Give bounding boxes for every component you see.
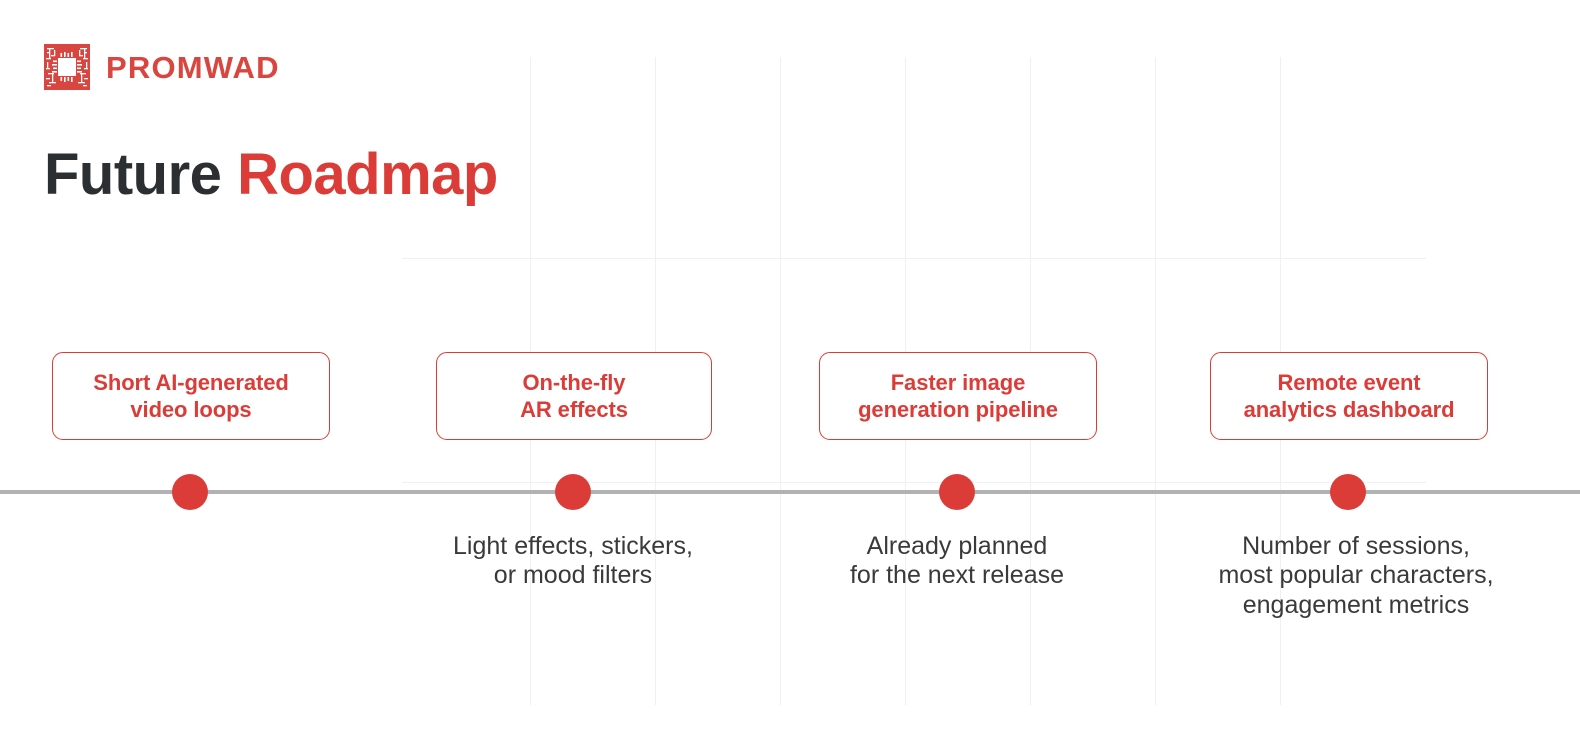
page-title-dark: Future [44, 142, 221, 207]
timeline-dot-3[interactable] [939, 474, 975, 510]
milestone-card-2[interactable]: On-the-fly AR effects [436, 352, 712, 440]
milestone-card-label: On-the-fly AR effects [510, 369, 638, 424]
milestone-card-label: Remote event analytics dashboard [1234, 369, 1465, 424]
milestone-card-3[interactable]: Faster image generation pipeline [819, 352, 1097, 440]
grid-line-horizontal [402, 258, 1426, 259]
brand-logo: PROMWAD [44, 44, 280, 90]
grid-line-horizontal [402, 482, 1426, 483]
milestone-caption-4: Number of sessions, most popular charact… [1180, 532, 1532, 620]
grid-line-vertical [780, 57, 781, 705]
timeline-dot-4[interactable] [1330, 474, 1366, 510]
roadmap-slide: PROMWAD Future Roadmap Short AI-generate… [0, 0, 1580, 753]
page-title: Future Roadmap [44, 143, 498, 207]
milestone-card-label: Short AI-generated video loops [83, 369, 298, 424]
milestone-card-4[interactable]: Remote event analytics dashboard [1210, 352, 1488, 440]
milestone-caption-2: Light effects, stickers, or mood filters [413, 532, 733, 591]
page-title-accent: Roadmap [237, 142, 498, 207]
milestone-caption-3: Already planned for the next release [797, 532, 1117, 591]
promwad-chip-logo-icon [44, 44, 90, 90]
milestone-card-1[interactable]: Short AI-generated video loops [52, 352, 330, 440]
timeline-dot-2[interactable] [555, 474, 591, 510]
grid-line-vertical [1155, 57, 1156, 705]
brand-name: PROMWAD [106, 52, 280, 83]
milestone-card-label: Faster image generation pipeline [848, 369, 1068, 424]
timeline-dot-1[interactable] [172, 474, 208, 510]
